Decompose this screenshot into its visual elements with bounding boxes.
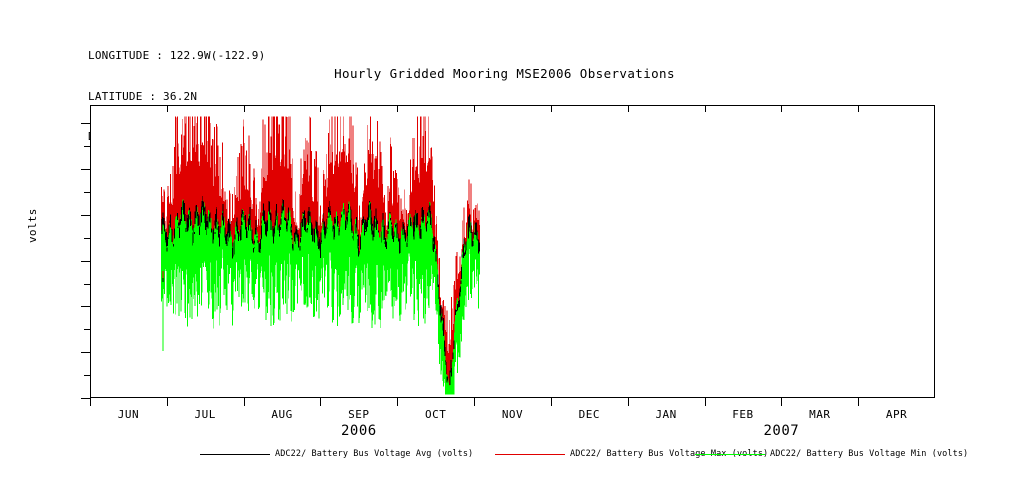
- chart-title: Hourly Gridded Mooring MSE2006 Observati…: [0, 66, 1009, 81]
- x-axis-top-ticks: [90, 105, 935, 113]
- x-tick-label: APR: [886, 408, 907, 421]
- y-tick-major: [81, 215, 90, 216]
- legend-item-min: ADC22/ Battery Bus Voltage Min (volts): [695, 449, 968, 459]
- x-tick: [167, 398, 168, 406]
- legend-item-avg: ADC22/ Battery Bus Voltage Avg (volts): [200, 449, 473, 459]
- x-axis: JUNJULAUGSEPOCTNOVDECJANFEBMARAPR2006200…: [90, 398, 935, 444]
- y-tick-major: [81, 306, 90, 307]
- x-tick-top: [244, 105, 245, 112]
- x-tick-top: [167, 105, 168, 112]
- legend-swatch-max: [495, 454, 565, 455]
- x-tick-top: [705, 105, 706, 112]
- x-tick-label: NOV: [502, 408, 523, 421]
- y-tick-major: [81, 261, 90, 262]
- x-tick-label: JUN: [118, 408, 139, 421]
- x-tick: [551, 398, 552, 406]
- x-tick: [397, 398, 398, 406]
- legend-swatch-min: [695, 454, 765, 455]
- legend-label: ADC22/ Battery Bus Voltage Min (volts): [770, 449, 968, 459]
- x-tick-label: JUL: [195, 408, 216, 421]
- x-tick: [244, 398, 245, 406]
- plot-area: [90, 105, 935, 398]
- x-tick: [628, 398, 629, 406]
- chart-legend: ADC22/ Battery Bus Voltage Avg (volts)AD…: [0, 449, 1009, 465]
- x-tick-top: [781, 105, 782, 112]
- x-tick-label: JAN: [655, 408, 676, 421]
- x-tick: [320, 398, 321, 406]
- x-axis-year-label: 2006: [341, 423, 377, 439]
- x-tick-label: SEP: [348, 408, 369, 421]
- y-tick-major: [81, 352, 90, 353]
- x-tick-top: [320, 105, 321, 112]
- y-tick-major: [81, 398, 90, 399]
- x-tick-top: [551, 105, 552, 112]
- x-tick: [781, 398, 782, 406]
- x-tick: [474, 398, 475, 406]
- x-tick-top: [90, 105, 91, 112]
- data-canvas: [91, 106, 934, 397]
- x-tick-top: [858, 105, 859, 112]
- x-tick-label: MAR: [809, 408, 830, 421]
- y-tick-major: [81, 123, 90, 124]
- x-tick-top: [474, 105, 475, 112]
- x-tick-label: OCT: [425, 408, 446, 421]
- longitude-label: LONGITUDE : 122.9W(-122.9): [88, 49, 265, 63]
- latitude-label: LATITUDE : 36.2N: [88, 90, 265, 104]
- x-tick-label: DEC: [579, 408, 600, 421]
- y-axis-title: volts: [26, 208, 39, 243]
- x-tick: [90, 398, 91, 406]
- x-axis-year-label: 2007: [764, 423, 800, 439]
- x-tick-label: FEB: [732, 408, 753, 421]
- y-axis: 48.050.052.054.056.058.060.0: [0, 105, 90, 398]
- legend-swatch-avg: [200, 454, 270, 455]
- x-tick-label: AUG: [271, 408, 292, 421]
- legend-label: ADC22/ Battery Bus Voltage Avg (volts): [275, 449, 473, 459]
- y-tick-major: [81, 169, 90, 170]
- x-tick-top: [397, 105, 398, 112]
- x-tick-top: [628, 105, 629, 112]
- x-tick: [705, 398, 706, 406]
- x-tick: [858, 398, 859, 406]
